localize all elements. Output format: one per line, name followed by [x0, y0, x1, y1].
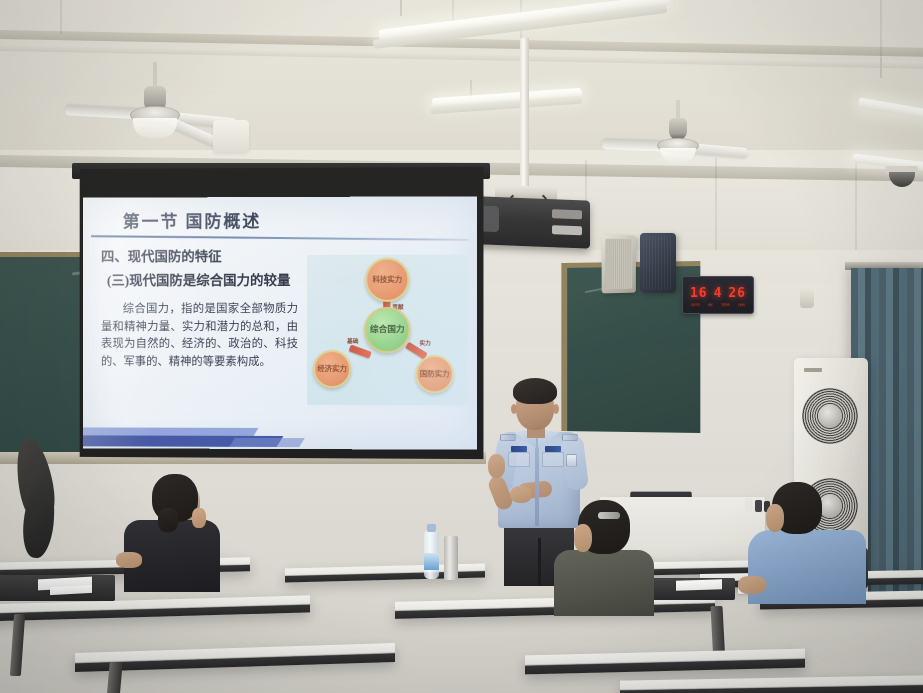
student-center-hair-clip — [598, 512, 620, 519]
diagram-node-bottom-right: 国防实力 — [415, 355, 453, 393]
ceiling-fan-right — [643, 100, 713, 170]
diagram-link-label-bottom-left: 基础 — [347, 337, 358, 345]
clock-digit-group-hours: 16 — [690, 286, 708, 301]
clock-sub-label: TEMP — [721, 303, 730, 307]
speaker-grille — [643, 236, 673, 290]
student-left-hand — [192, 508, 206, 528]
diagram-node-bottom-left: 经济实力 — [313, 350, 351, 388]
student-center-shirt — [554, 550, 654, 616]
student-left — [118, 472, 228, 587]
wall-sensor-box — [800, 288, 814, 308]
ceiling-panel-seam — [60, 0, 62, 34]
student-right — [748, 482, 876, 602]
wall-panel-seam — [855, 156, 857, 256]
diagram-node-top: 科技实力 — [365, 258, 409, 302]
student-right-arm — [738, 576, 766, 594]
projector-vent — [552, 225, 582, 235]
projector-pole — [520, 38, 529, 188]
bottle-cap — [427, 524, 436, 532]
lecturer-hand-left — [488, 454, 505, 478]
student-right-face — [766, 504, 784, 532]
fan-light — [133, 118, 177, 138]
slide-footer-decoration — [83, 422, 342, 449]
wall-speaker-left — [602, 235, 636, 294]
thermos-flask — [444, 536, 458, 580]
lecturer-hand-right — [510, 486, 532, 503]
fan-motor — [669, 118, 687, 140]
footer-band-accent — [229, 438, 305, 447]
slide-body-text: 综合国力，指的是国家全部物质力量和精神力量、实力和潜力的总和，由表现为自然的、经… — [101, 301, 298, 372]
clock-digit-row: 16 4 26 — [683, 283, 753, 303]
lecturer-shirt-placket — [535, 436, 539, 526]
student-left-arm — [116, 552, 142, 568]
wall-speaker-right — [640, 233, 676, 293]
ac-fan-grille-top — [802, 388, 858, 444]
clock-sub-label: DATE — [691, 303, 700, 307]
wall-panel-seam — [715, 158, 717, 258]
lecturer-ear-right — [553, 404, 559, 414]
clock-digit-group-middle: 4 — [714, 286, 723, 301]
paper-sheet — [676, 579, 722, 591]
wall-mounted-box — [213, 120, 249, 152]
ac-brand-mark — [804, 368, 822, 372]
light-hanger — [880, 58, 882, 78]
ceiling-panel-seam — [880, 0, 882, 60]
digital-clock-display: 16 4 26 DATE WK TEMP HUM — [682, 276, 754, 314]
clock-sub-label-row: DATE WK TEMP HUM — [683, 303, 753, 307]
slide-title: 第一节 国防概述 — [123, 207, 262, 232]
lecturer-sleeve-patch — [566, 454, 577, 467]
lecturer-epaulette-left — [500, 434, 516, 441]
lecturer-pocket-left — [508, 452, 530, 467]
clock-sub-label: WK — [708, 303, 712, 307]
lecturer-rank-badge — [545, 446, 561, 452]
diagram-link-label-bottom-right: 实力 — [419, 339, 430, 347]
speaker-grille — [606, 239, 633, 290]
lecturer-hair — [513, 378, 557, 404]
bottle-label — [424, 553, 439, 570]
clock-digit-group-last: 26 — [728, 286, 746, 301]
slide-heading-level2: 四、现代国防的特征 — [101, 245, 222, 265]
diagram-node-center: 综合国力 — [364, 307, 410, 353]
student-center — [552, 498, 660, 608]
lecturer-epaulette-right — [562, 434, 578, 441]
fan-light — [660, 148, 696, 164]
projector-vent — [552, 209, 582, 219]
slide-heading-level3: (三)现代国防是综合国力的较量 — [107, 269, 291, 289]
slide-title-underline — [91, 235, 469, 241]
clock-sub-label: HUM — [738, 303, 745, 307]
ceiling-fan-left — [115, 62, 195, 142]
lecturer-ear-left — [511, 404, 517, 414]
lecturer-pocket-right — [542, 452, 564, 467]
lecturer-leg-seam — [538, 538, 541, 586]
light-hanger — [400, 0, 402, 16]
classroom-photo: 16 4 26 DATE WK TEMP HUM 第一节 国防概述 四、现代国防… — [0, 0, 923, 693]
lecturer-name-badge — [511, 446, 527, 452]
slide-diagram: 贡献 基础 实力 科技实力 综合国力 经济实力 国防实力 — [307, 255, 468, 406]
desk-leg — [106, 662, 122, 693]
student-center-face — [574, 524, 592, 552]
student-right-shirt — [748, 530, 866, 604]
projected-slide: 第一节 国防概述 四、现代国防的特征 (三)现代国防是综合国力的较量 综合国力，… — [83, 196, 477, 449]
diagram-link-bottom-left — [349, 344, 372, 358]
water-bottle — [424, 531, 439, 579]
student-left-hair-bun — [158, 508, 178, 532]
